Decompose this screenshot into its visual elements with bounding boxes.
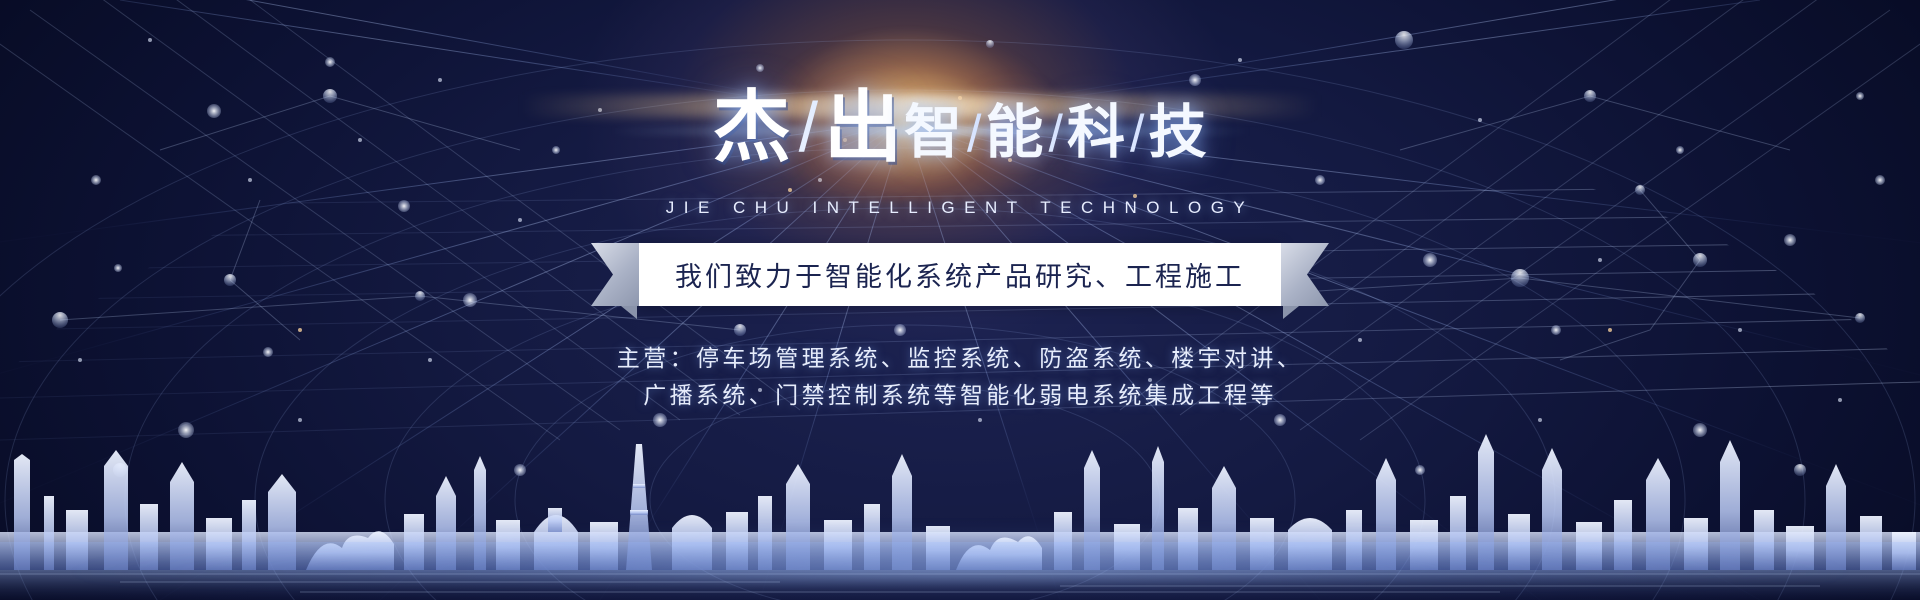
water-reflection xyxy=(0,542,1920,600)
title-char-chu: 出 xyxy=(824,88,904,166)
title-char-ji: 技 xyxy=(1148,104,1207,162)
title-char-neng: 能 xyxy=(986,104,1045,162)
description-line-1: 主营：停车场管理系统、监控系统、防盗系统、楼宇对讲、 xyxy=(0,340,1920,377)
ribbon-slogan-text: 我们致力于智能化系统产品研究、工程施工 xyxy=(675,255,1245,294)
english-tagline: JIE CHU INTELLIGENT TECHNOLOGY xyxy=(0,198,1920,218)
ribbon-banner: 我们致力于智能化系统产品研究、工程施工 xyxy=(0,243,1920,306)
ribbon-fold-left xyxy=(621,306,637,319)
title-char-ke: 科 xyxy=(1067,104,1126,162)
title-char-zhi: 智 xyxy=(904,104,963,162)
title-slash-4: / xyxy=(1130,108,1144,160)
title-slash-3: / xyxy=(1049,108,1063,160)
ribbon-tail-left xyxy=(591,243,639,306)
title-slash-1: / xyxy=(799,92,818,162)
ribbon-fold-right xyxy=(1283,306,1299,319)
title-char-jie: 杰 xyxy=(713,88,793,166)
ribbon-body: 我们致力于智能化系统产品研究、工程施工 xyxy=(639,243,1281,306)
ribbon-tail-right xyxy=(1281,243,1329,306)
brand-title: 杰 / 出 智 / 能 / 科 / 技 xyxy=(0,88,1920,166)
title-slash-2: / xyxy=(967,108,981,160)
hero-banner: 杰 / 出 智 / 能 / 科 / 技 JIE CHU INTELLIGENT … xyxy=(0,0,1920,600)
